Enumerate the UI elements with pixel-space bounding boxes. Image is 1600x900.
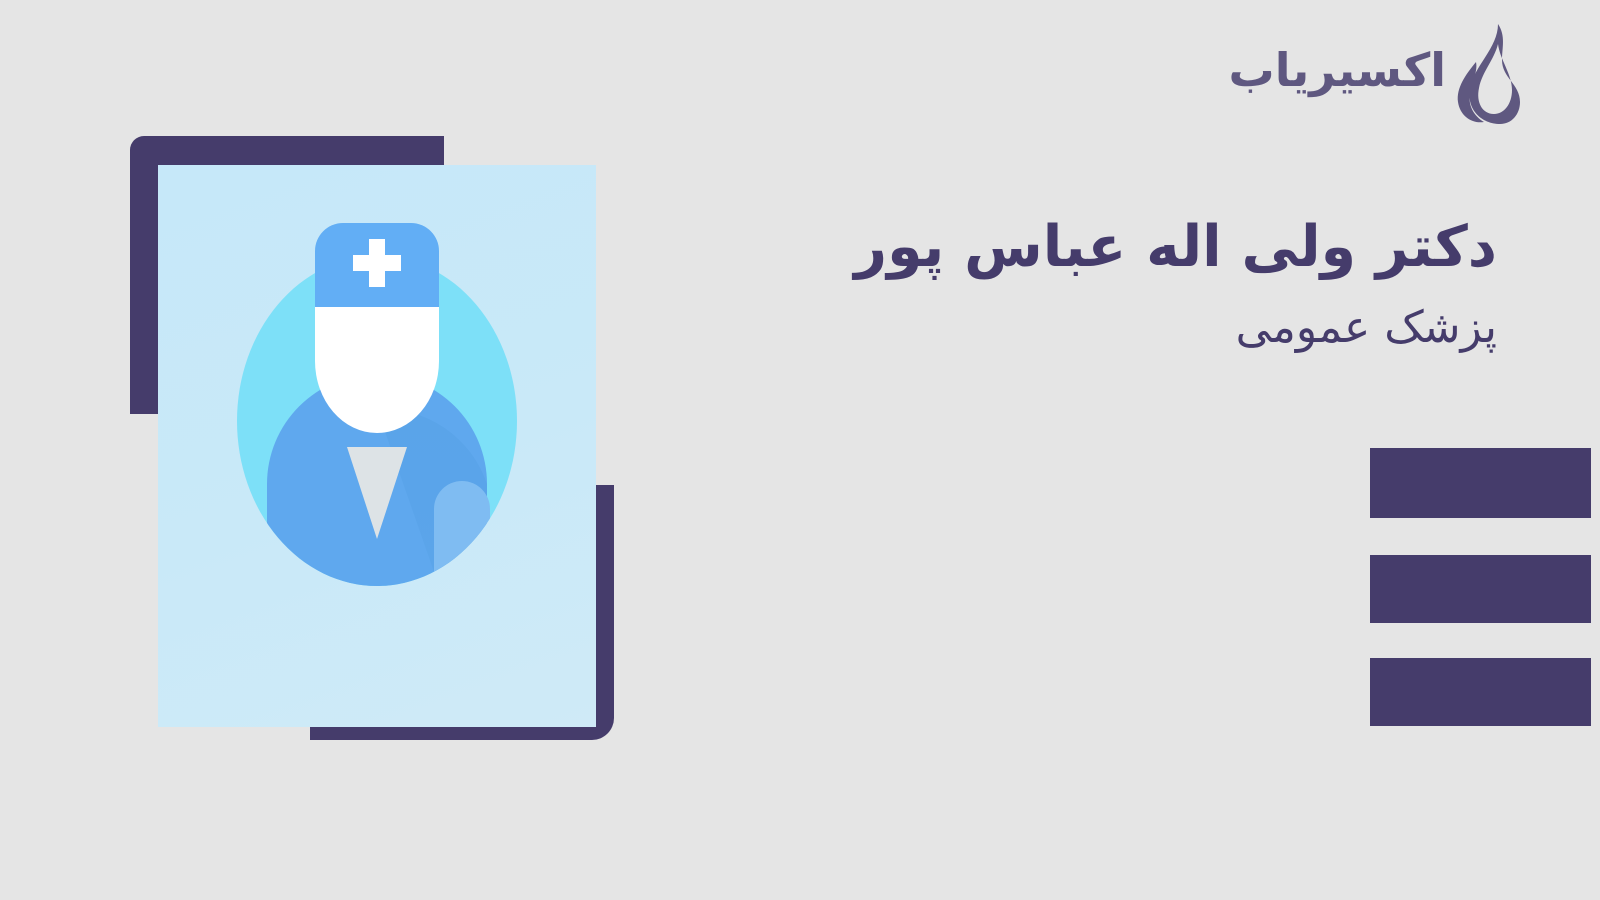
decorative-bar bbox=[1370, 448, 1591, 518]
decorative-bars bbox=[1370, 448, 1600, 738]
doctor-specialty: پزشک عمومی bbox=[777, 299, 1497, 356]
doctor-photo-composition bbox=[130, 136, 630, 746]
doctor-info-block: دکتر ولی اله عباس پور پزشک عمومی bbox=[777, 214, 1497, 356]
flame-body bbox=[1469, 24, 1520, 124]
doctor-avatar-illustration bbox=[197, 209, 557, 609]
avatar-cap-cross-icon-bar bbox=[353, 255, 401, 271]
avatar-face bbox=[315, 289, 439, 433]
decorative-bar bbox=[1370, 555, 1591, 623]
brand-logo[interactable]: اکسیریاب bbox=[1229, 22, 1523, 126]
decorative-bar bbox=[1370, 658, 1591, 726]
avatar-arm bbox=[434, 481, 490, 609]
doctor-photo-card bbox=[158, 165, 596, 727]
logo-wordmark: اکسیریاب bbox=[1229, 47, 1447, 101]
flame-drop-logo-icon bbox=[1454, 22, 1522, 126]
doctor-name: دکتر ولی اله عباس پور bbox=[777, 214, 1497, 281]
profile-banner: اکسیریاب دکتر ولی اله عباس پور پزشک عموم… bbox=[0, 0, 1600, 900]
